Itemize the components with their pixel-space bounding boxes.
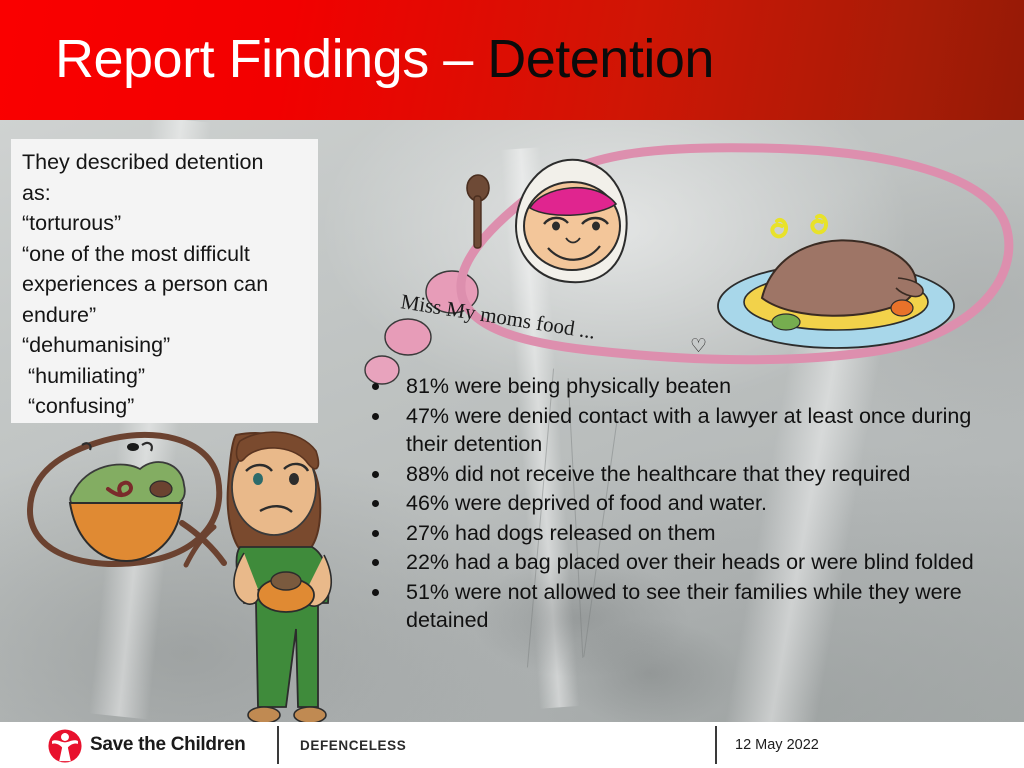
footer-divider bbox=[277, 726, 279, 764]
list-item: 27% had dogs released on them bbox=[363, 519, 1018, 548]
quote-line: “dehumanising” bbox=[22, 330, 312, 361]
findings-bullet-list: 81% were being physically beaten 47% wer… bbox=[363, 372, 1018, 636]
save-the-children-logo-icon bbox=[47, 728, 83, 764]
footer-divider bbox=[715, 726, 717, 764]
quote-line: endure” bbox=[22, 300, 312, 331]
quote-line: “torturous” bbox=[22, 208, 312, 239]
page-title-primary: Report Findings – bbox=[55, 29, 487, 89]
quote-line: “humiliating” bbox=[22, 361, 312, 392]
list-item: 46% were deprived of food and water. bbox=[363, 489, 1018, 518]
quote-line: They described detention bbox=[22, 147, 312, 178]
detention-description-quotes: They described detention as: “torturous”… bbox=[11, 139, 318, 423]
quote-line: “one of the most difficult bbox=[22, 239, 312, 270]
quote-line: experiences a person can bbox=[22, 269, 312, 300]
presentation-slide: Miss My moms food ... ♡ bbox=[0, 0, 1024, 768]
page-title-secondary: Detention bbox=[487, 29, 714, 89]
list-item: 88% did not receive the healthcare that … bbox=[363, 460, 1018, 489]
list-item: 47% were denied contact with a lawyer at… bbox=[363, 402, 1018, 459]
slide-footer: Save the Children DEFENCELESS 12 May 202… bbox=[0, 722, 1024, 768]
document-name: DEFENCELESS bbox=[300, 738, 406, 753]
list-item: 81% were being physically beaten bbox=[363, 372, 1018, 401]
list-item: 51% were not allowed to see their famili… bbox=[363, 578, 1018, 635]
slide-date: 12 May 2022 bbox=[735, 737, 819, 753]
quote-line: as: bbox=[22, 178, 312, 209]
page-title: Report Findings – Detention bbox=[55, 28, 714, 90]
quote-line: “confusing” bbox=[22, 391, 312, 422]
slide-header-bar: Report Findings – Detention bbox=[0, 0, 1024, 120]
brand-name: Save the Children bbox=[90, 734, 245, 756]
list-item: 22% had a bag placed over their heads or… bbox=[363, 548, 1018, 577]
